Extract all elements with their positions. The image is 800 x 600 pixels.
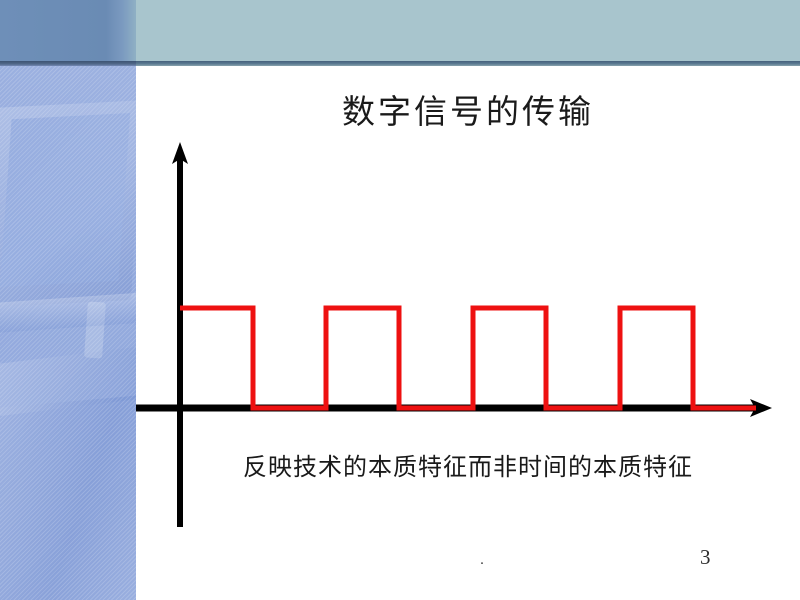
slide-content-area: 数字信号的传输 反映技术的本质特征而非时间的本质特征	[136, 66, 800, 600]
header-band-left-block	[0, 0, 136, 61]
square-wave-polyline	[180, 308, 756, 408]
chart-caption: 反映技术的本质特征而非时间的本质特征	[136, 452, 800, 482]
header-band-right-block	[136, 0, 800, 61]
page-number: 3	[700, 545, 740, 570]
footer-separator-dot: .	[472, 552, 492, 569]
slide-canvas: 数字信号的传输 反映技术的本质特征而非时间的本质特征	[0, 0, 800, 600]
decorative-sidebar	[0, 66, 136, 600]
chart-svg	[136, 66, 800, 600]
sidebar-sheen-overlay	[0, 66, 136, 600]
square-wave-series	[180, 308, 756, 408]
header-band	[0, 0, 800, 66]
digital-signal-chart	[136, 66, 800, 600]
